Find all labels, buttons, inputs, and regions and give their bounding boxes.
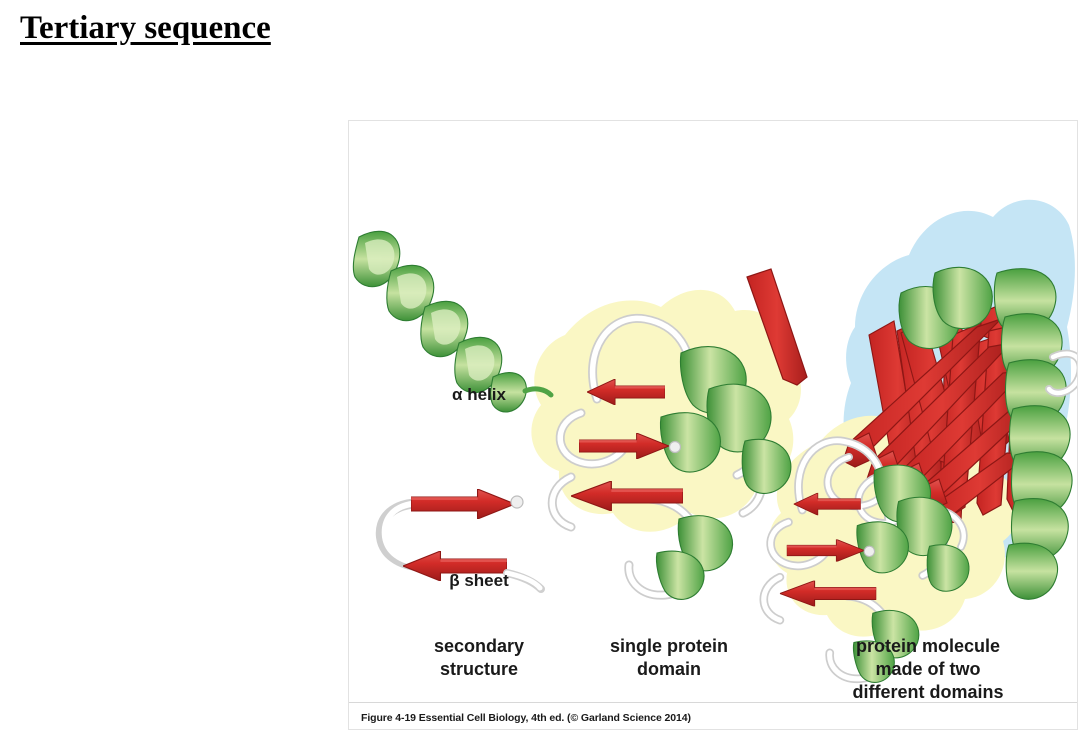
- single-protein-domain-label: single protein domain: [534, 635, 804, 681]
- beta-sheet-label: β sheet: [409, 571, 549, 591]
- alpha-helix-label: α helix: [409, 385, 549, 405]
- two-domain-protein-label: protein molecule made of two different d…: [779, 635, 1077, 704]
- page-title: Tertiary sequence: [20, 8, 271, 48]
- figure-caption: Figure 4-19 Essential Cell Biology, 4th …: [361, 711, 691, 725]
- caption-divider: [349, 702, 1077, 703]
- two-domain-protein-illustration: [747, 267, 1077, 682]
- figure-panel: α helix β sheet secondary structure sing…: [348, 120, 1078, 730]
- protein-structure-illustration: [349, 121, 1077, 704]
- beta-strand-right: [411, 489, 515, 519]
